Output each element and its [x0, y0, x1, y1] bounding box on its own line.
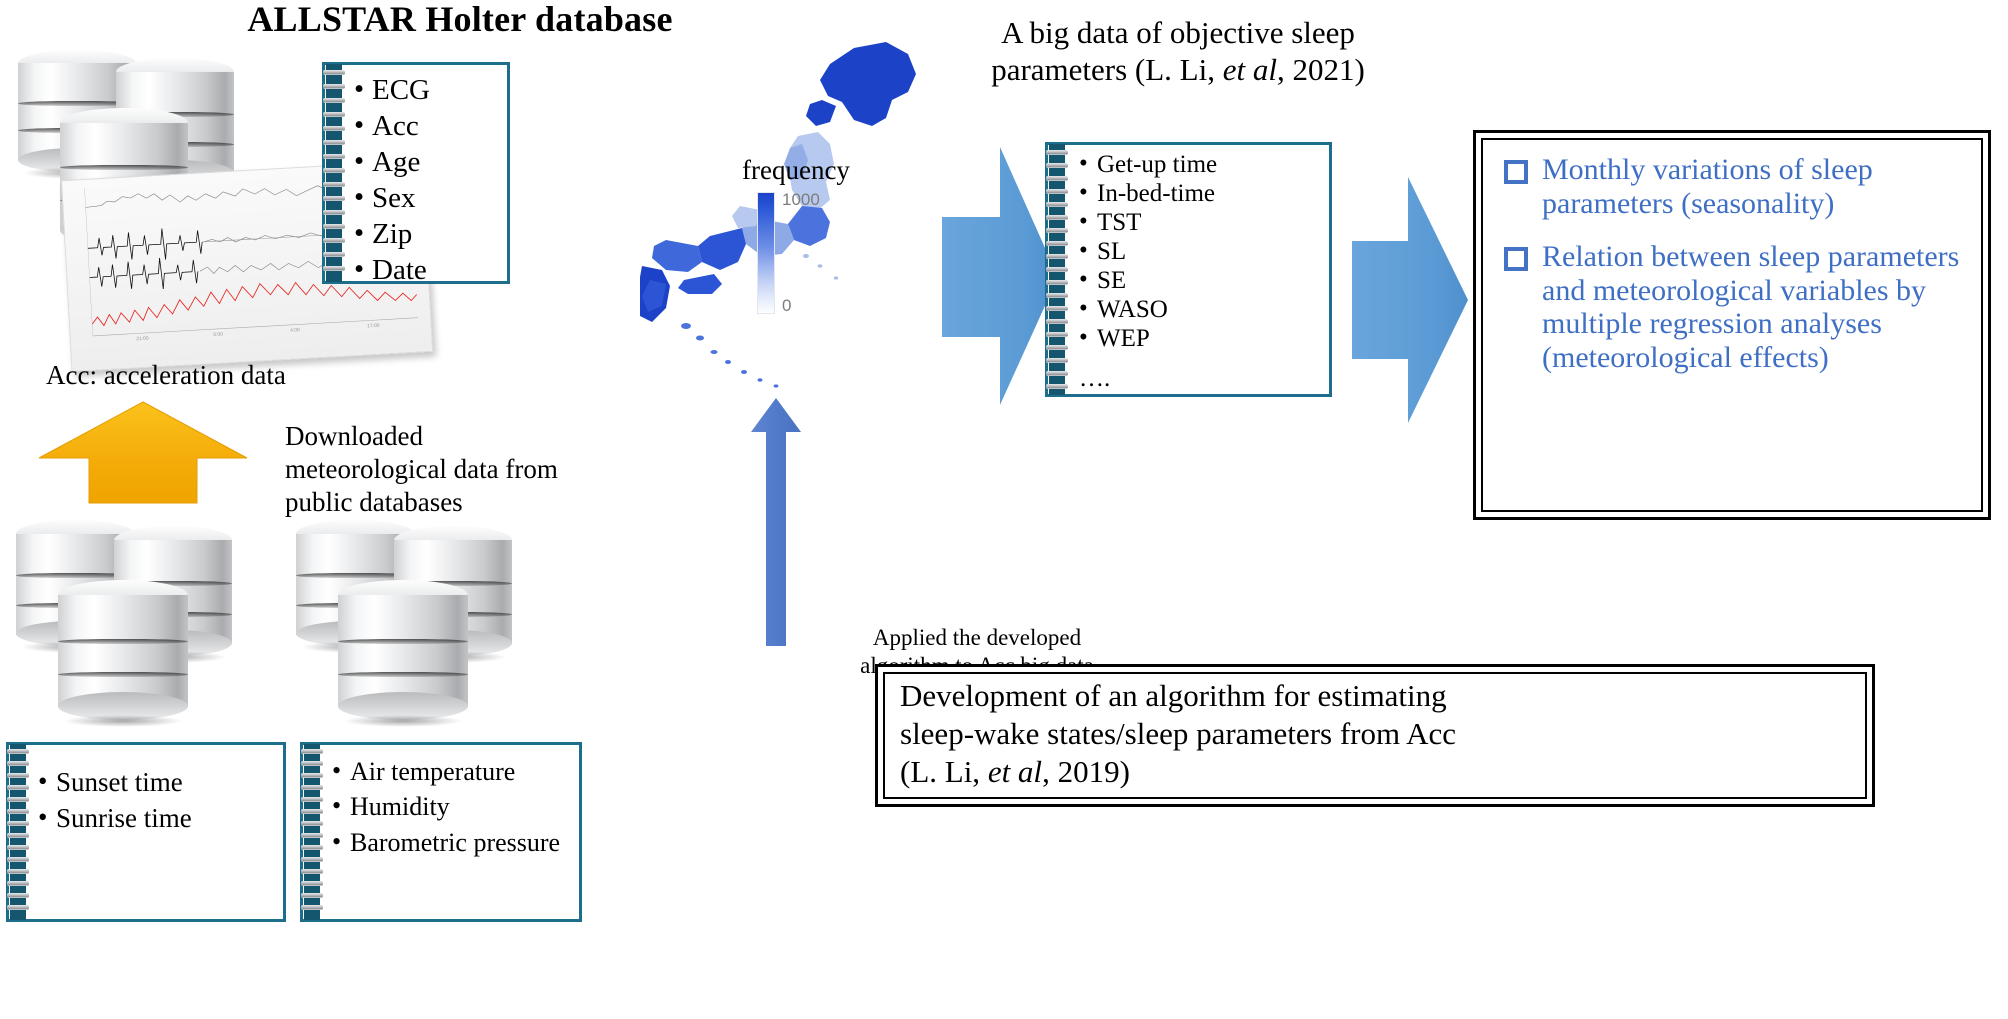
sleep-parameters-list: Get-up time In-bed-time TST SL SE WASO W… [1077, 150, 1322, 353]
frequency-legend-max: 1000 [782, 190, 820, 210]
acc-chart-xtick: 4:00 [290, 327, 300, 334]
algorithm-arrow-svg [748, 396, 804, 648]
development-line1: Development of an algorithm for estimati… [900, 677, 1858, 715]
list-item: Air temperature [330, 754, 572, 789]
results-item: Relation between sleep parameters and me… [1500, 240, 1970, 374]
cylinder-rib [60, 165, 188, 170]
bigdata-heading-line2: parameters (L. Li, et al, 2021) [928, 51, 1428, 88]
development-etal: et al [988, 754, 1042, 789]
spiral-binding [326, 64, 342, 282]
list-item: Age [352, 144, 500, 180]
list-item: Acc [352, 108, 500, 144]
holter-fields-card: ECG Acc Age Sex Zip Date [322, 62, 510, 284]
bigdata-heading: A big data of objective sleep parameters… [928, 14, 1428, 88]
list-item: Sunrise time [36, 800, 276, 836]
list-item: In-bed-time [1077, 179, 1322, 208]
map-region-hokkaido-tail [806, 100, 836, 126]
map-region-chubu-b [732, 206, 760, 228]
development-box-content: Development of an algorithm for estimati… [900, 677, 1858, 790]
orange-up-arrow [36, 400, 251, 505]
list-item: WASO [1077, 295, 1322, 324]
list-item: TST [1077, 208, 1322, 237]
bigdata-heading-etal: et al [1223, 52, 1277, 87]
arrow-to-sleep-card [942, 145, 1060, 407]
map-region-kansai [698, 228, 746, 270]
map-region-chugoku [652, 240, 702, 272]
list-item: Sex [352, 180, 500, 216]
japan-choropleth-map [640, 40, 970, 400]
results-list: Monthly variations of sleep parameters (… [1500, 153, 1970, 395]
list-item: Get-up time [1077, 150, 1322, 179]
japan-map-svg [640, 40, 970, 400]
square-bullet-icon [1504, 247, 1528, 271]
results-item-text: Monthly variations of sleep parameters (… [1542, 153, 1873, 220]
development-line3-pre: (L. Li, [900, 754, 988, 789]
chevron-left-svg [942, 145, 1060, 407]
frequency-colorbar [757, 192, 775, 314]
spiral-binding [304, 744, 320, 920]
frequency-legend-label: frequency [742, 155, 850, 186]
map-region-ryukyu [681, 323, 779, 388]
list-item: Sunset time [36, 764, 276, 800]
download-caption: Downloaded meteorological data from publ… [285, 420, 585, 519]
weather-variables-card: Air temperature Humidity Barometric pres… [300, 742, 582, 922]
bigdata-heading-line2-post: , 2021) [1277, 52, 1365, 87]
sun-times-list: Sunset time Sunrise time [36, 764, 276, 836]
sun-times-card: Sunset time Sunrise time [6, 742, 286, 922]
list-item: ECG [352, 72, 500, 108]
database-cylinder [338, 580, 468, 720]
bigdata-heading-line1: A big data of objective sleep [928, 14, 1428, 51]
map-region-shikoku [678, 274, 722, 294]
list-item: Zip [352, 216, 500, 252]
results-item: Monthly variations of sleep parameters (… [1500, 153, 1970, 220]
page-title: ALLSTAR Holter database [180, 0, 740, 40]
list-item: SE [1077, 266, 1322, 295]
weather-variables-list: Air temperature Humidity Barometric pres… [330, 754, 572, 860]
results-item-text: Relation between sleep parameters and me… [1542, 240, 1959, 374]
sleep-parameters-ellipsis: …. [1077, 365, 1322, 393]
spiral-binding [10, 744, 26, 920]
list-item: WEP [1077, 324, 1322, 353]
bigdata-heading-line2-pre: parameters (L. Li, [991, 52, 1223, 87]
arrow-to-results [1352, 175, 1470, 425]
list-item: Date [352, 252, 500, 288]
development-line3: (L. Li, et al, 2019) [900, 753, 1858, 791]
results-panel: Monthly variations of sleep parameters (… [1473, 130, 1991, 520]
map-region-kanto [788, 206, 830, 246]
holter-fields-list: ECG Acc Age Sex Zip Date [352, 72, 500, 289]
chevron-right-svg [1352, 175, 1470, 425]
acc-caption: Acc: acceleration data [46, 360, 286, 391]
square-bullet-icon [1504, 160, 1528, 184]
list-item: SL [1077, 237, 1322, 266]
map-region-islands [803, 254, 838, 280]
frequency-legend-min: 0 [782, 296, 791, 316]
development-line3-post: , 2019) [1042, 754, 1130, 789]
algorithm-up-arrow [748, 396, 804, 648]
orange-arrow-svg [36, 400, 251, 505]
database-stack-weather [290, 508, 540, 738]
sleep-parameters-card: Get-up time In-bed-time TST SL SE WASO W… [1045, 142, 1332, 397]
acc-chart-xtick: 0:00 [213, 331, 223, 338]
development-line2: sleep-wake states/sleep parameters from … [900, 715, 1858, 753]
database-cylinder [58, 580, 188, 720]
list-item: Humidity [330, 789, 572, 824]
spiral-binding [1049, 144, 1065, 395]
acc-chart-xtick: 17:00 [367, 323, 380, 330]
list-item: Barometric pressure [330, 825, 572, 860]
acc-chart-xtick: 21:00 [136, 336, 149, 343]
database-stack-sun [10, 508, 260, 738]
algorithm-caption-line1: Applied the developed [812, 624, 1142, 652]
map-region-hokkaido [820, 42, 916, 126]
development-box: Development of an algorithm for estimati… [875, 664, 1875, 807]
